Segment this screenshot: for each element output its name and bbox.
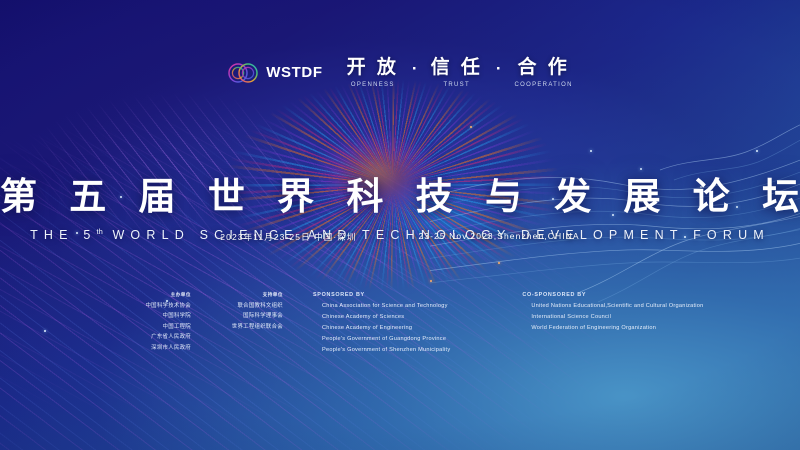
list-item: Chinese Academy of Sciences xyxy=(313,312,450,323)
list-item: United Nations Educational,Scientific an… xyxy=(522,301,703,312)
brand-row: WSTDF 开 放 OPENNESS · 信 任 TRUST · 合 作 COO… xyxy=(0,58,800,88)
tagline-cn: 合 作 xyxy=(517,58,569,78)
list-item: 联合国教科文组织 xyxy=(237,301,283,312)
list-item: World Federation of Engineering Organiza… xyxy=(522,323,703,334)
date-location-line: 2023年11月23-25日 中国·深圳 23-25 Nov.2023,Shen… xyxy=(0,231,800,243)
tagline-item-trust: 信 任 TRUST xyxy=(431,58,483,88)
organizers-en-cosponsored-header: CO-SPONSORED BY xyxy=(522,292,703,298)
date-location-cn: 2023年11月23-25日 中国·深圳 xyxy=(220,231,356,243)
list-item: 中国科学技术协会 xyxy=(145,301,191,312)
tagline-cn: 开 放 xyxy=(347,58,399,78)
date-location-en: 23-25 Nov.2023,Shenzhen,CHINA xyxy=(418,231,579,243)
list-item: China Association for Science and Techno… xyxy=(313,301,450,312)
list-item: 中国工程院 xyxy=(163,322,191,333)
list-item: 深圳市人民政府 xyxy=(151,343,191,354)
list-item: People's Government of Shenzhen Municipa… xyxy=(313,345,450,356)
list-item: Chinese Academy of Engineering xyxy=(313,323,450,334)
organizers-cn-support-column: 支持单位 联合国教科文组织 国际科学理事会 世界工程组织联合会 xyxy=(191,292,283,356)
organizers-cn-host-column: 主办单位 中国科学技术协会 中国科学院 中国工程院 广东省人民政府 深圳市人民政… xyxy=(95,292,191,356)
list-item: 中国科学院 xyxy=(163,311,191,322)
tagline-separator: · xyxy=(496,59,502,79)
tagline-en: OPENNESS xyxy=(351,82,395,88)
list-item: International Science Council xyxy=(522,312,703,323)
wstdf-infinity-logo-icon xyxy=(227,59,261,87)
tagline-item-cooperation: 合 作 COOPERATION xyxy=(515,58,573,88)
tagline-en: COOPERATION xyxy=(515,82,573,88)
logo: WSTDF xyxy=(227,59,322,87)
tagline-cn: 信 任 xyxy=(431,58,483,78)
list-item: 广东省人民政府 xyxy=(151,332,191,343)
list-item: 世界工程组织联合会 xyxy=(232,322,283,333)
organizers-en-sponsored-header: SPONSORED BY xyxy=(313,292,450,298)
tagline-separator: · xyxy=(412,59,418,79)
page-title: 第 五 届 世 界 科 技 与 发 展 论 坛 xyxy=(0,166,800,220)
organizers-block: 主办单位 中国科学技术协会 中国科学院 中国工程院 广东省人民政府 深圳市人民政… xyxy=(95,292,704,356)
organizers-cn-support-header: 支持单位 xyxy=(263,292,283,298)
organizers-en-cosponsored-column: CO-SPONSORED BY United Nations Education… xyxy=(522,292,703,356)
organizers-cn-host-header: 主办单位 xyxy=(171,292,191,298)
logo-text: WSTDF xyxy=(266,64,322,81)
tagline-item-openness: 开 放 OPENNESS xyxy=(347,58,399,88)
organizers-en-sponsored-column: SPONSORED BY China Association for Scien… xyxy=(313,292,450,356)
list-item: 国际科学理事会 xyxy=(243,311,283,322)
tagline-en: TRUST xyxy=(443,82,470,88)
list-item: People's Government of Guangdong Provinc… xyxy=(313,334,450,345)
tagline-group: 开 放 OPENNESS · 信 任 TRUST · 合 作 COOPERATI… xyxy=(347,58,573,88)
conference-poster: WSTDF 开 放 OPENNESS · 信 任 TRUST · 合 作 COO… xyxy=(0,0,800,450)
